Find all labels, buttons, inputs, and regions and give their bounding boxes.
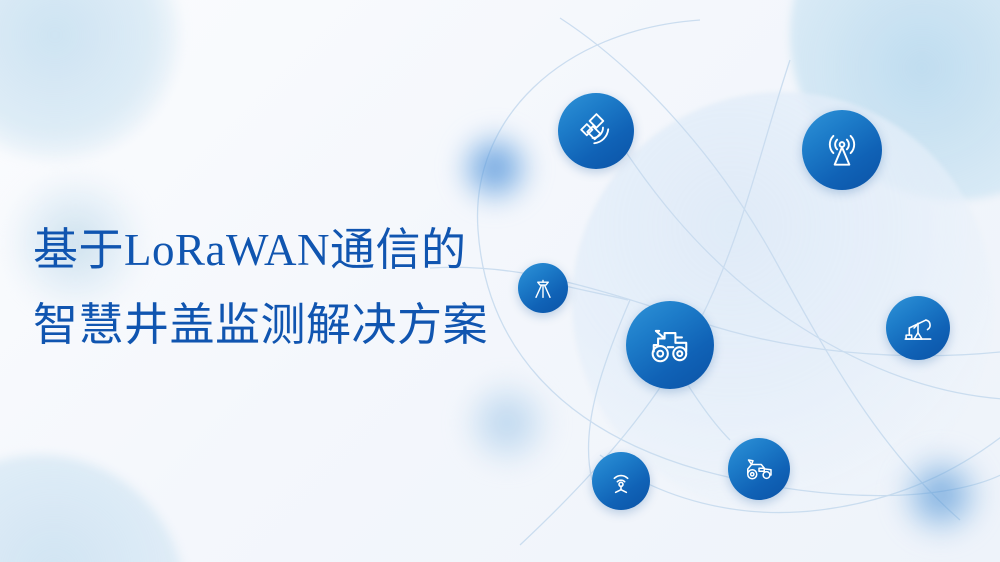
tractor-icon: [644, 319, 696, 371]
node-wifi-sensor[interactable]: [592, 452, 650, 510]
title-line-2: 智慧井盖监测解决方案: [33, 303, 563, 348]
title-line-1: 基于LoRaWAN通信的: [33, 228, 563, 273]
title-block: 基于LoRaWAN通信的 智慧井盖监测解决方案: [33, 228, 563, 348]
wifi-sensor-icon: [605, 465, 637, 497]
node-harvester[interactable]: [728, 438, 790, 500]
radio-tower-icon: [820, 128, 864, 172]
node-satellite[interactable]: [558, 93, 634, 169]
node-radio-tower[interactable]: [802, 110, 882, 190]
node-oil-pumpjack[interactable]: [886, 296, 950, 360]
oil-pumpjack-icon: [899, 309, 937, 347]
satellite-icon: [575, 110, 617, 152]
harvester-icon: [741, 451, 777, 487]
node-tractor[interactable]: [626, 301, 714, 389]
slide-canvas: 基于LoRaWAN通信的 智慧井盖监测解决方案: [0, 0, 1000, 562]
